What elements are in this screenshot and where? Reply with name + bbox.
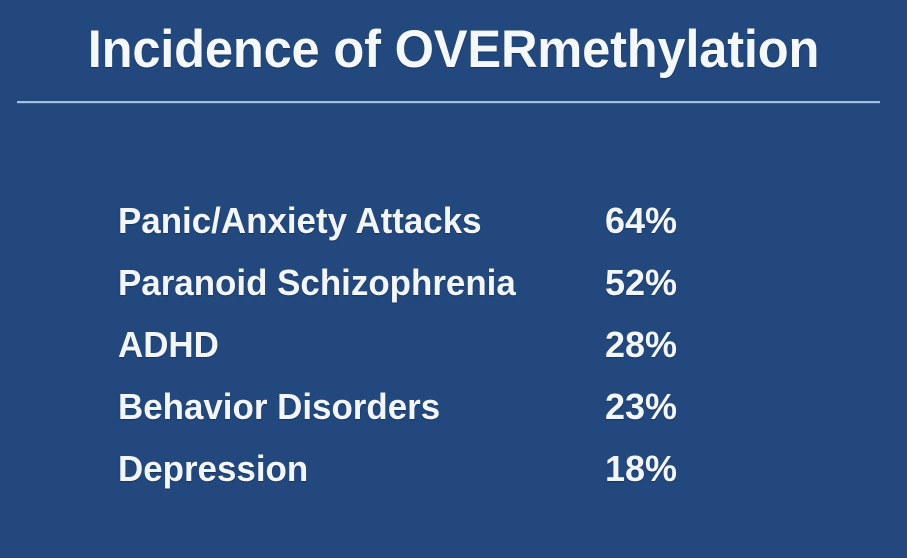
page-title: Incidence of OVERmethylation — [20, 18, 886, 82]
table-row: ADHD 28% — [118, 314, 818, 376]
percent-value: 18% — [605, 438, 818, 500]
title-divider — [17, 101, 880, 103]
condition-label: Panic/Anxiety Attacks — [118, 190, 590, 252]
condition-label: Paranoid Schizophrenia — [118, 252, 590, 314]
table-row: Paranoid Schizophrenia 52% — [118, 252, 818, 314]
percent-value: 23% — [605, 376, 818, 438]
table-row: Behavior Disorders 23% — [118, 376, 818, 438]
incidence-table-body: Panic/Anxiety Attacks 64% Paranoid Schiz… — [118, 190, 818, 500]
condition-label: ADHD — [118, 314, 590, 376]
percent-value: 28% — [605, 314, 818, 376]
condition-label: Depression — [118, 438, 590, 500]
slide-root: Incidence of OVERmethylation Panic/Anxie… — [0, 0, 907, 558]
condition-label: Behavior Disorders — [118, 376, 590, 438]
incidence-table: Panic/Anxiety Attacks 64% Paranoid Schiz… — [118, 190, 818, 500]
table-row: Panic/Anxiety Attacks 64% — [118, 190, 818, 252]
table-row: Depression 18% — [118, 438, 818, 500]
percent-value: 64% — [605, 190, 818, 252]
percent-value: 52% — [605, 252, 818, 314]
